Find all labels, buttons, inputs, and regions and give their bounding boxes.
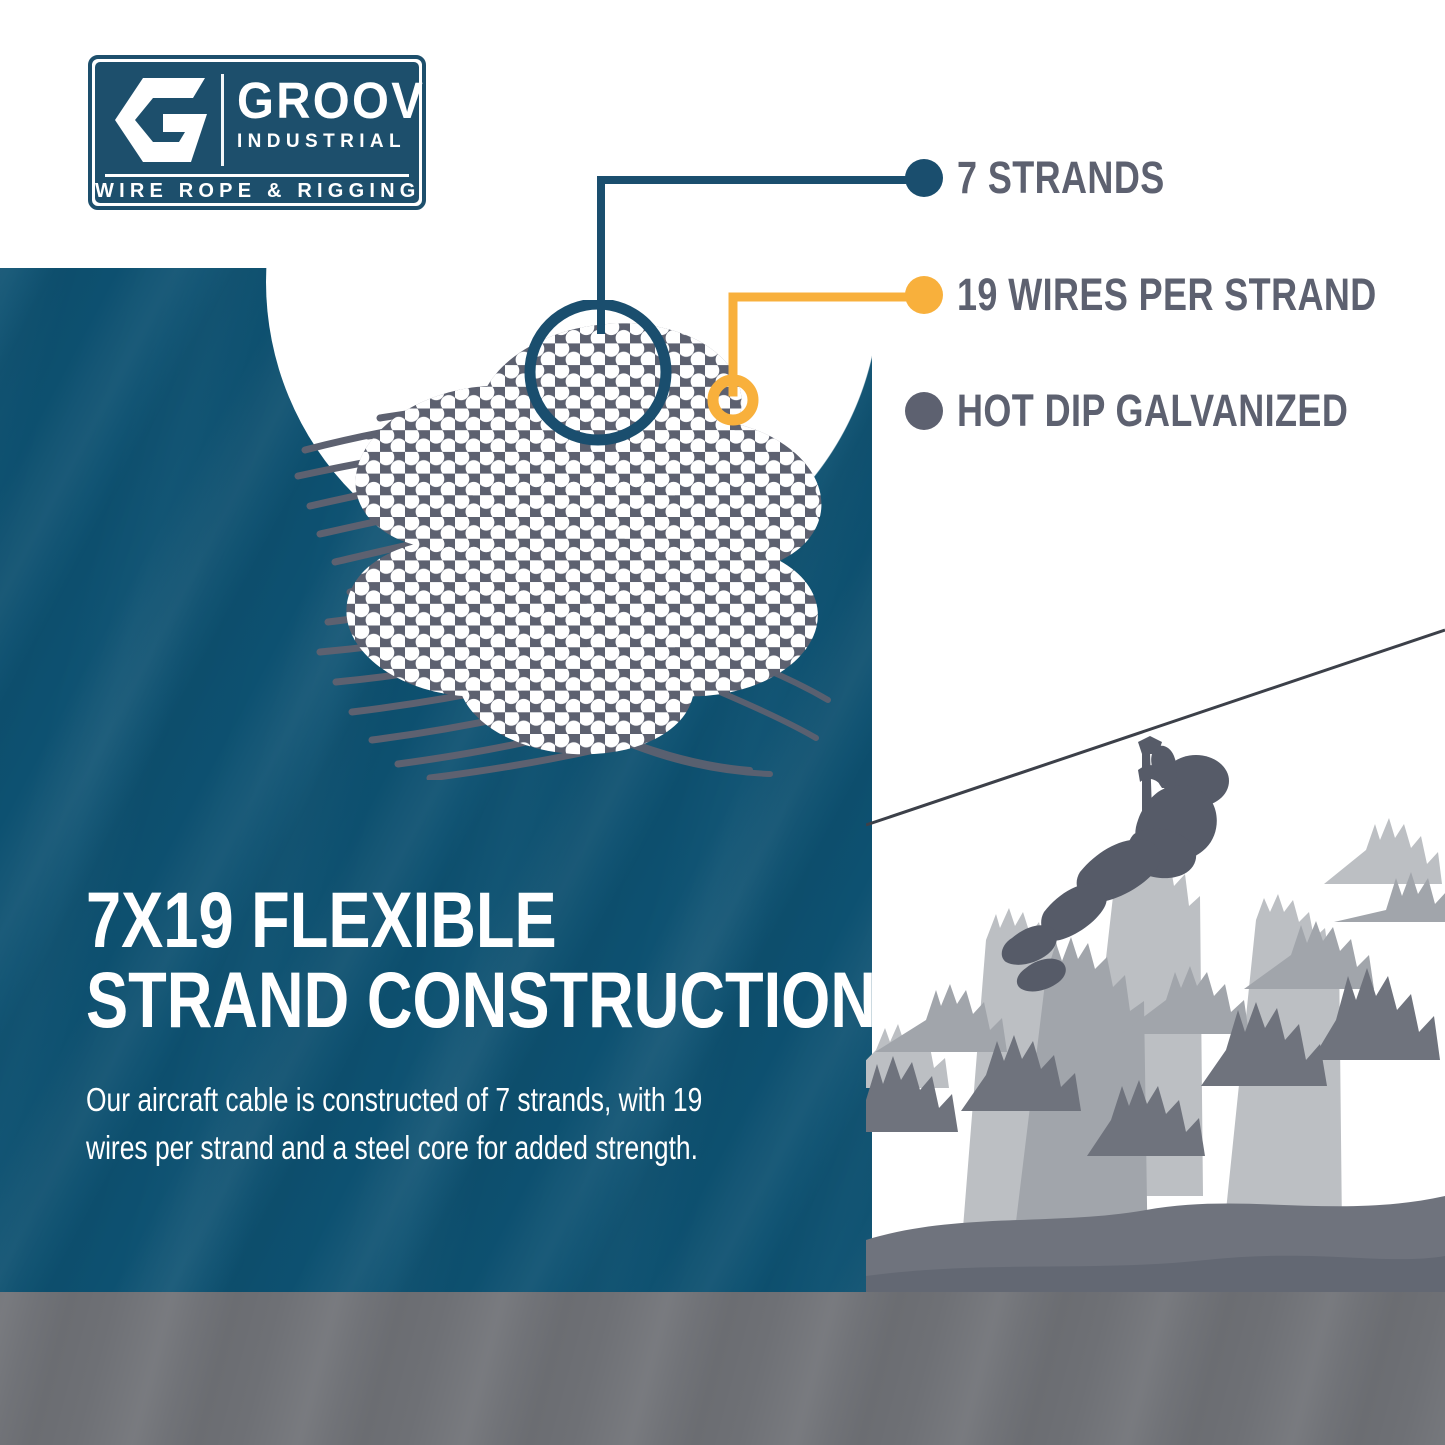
infographic-page: 7 STRANDS 19 WIRES PER STRAND HOT DIP GA… [0, 0, 1445, 1445]
logo-inner-plate: GROOVE INDUSTRIAL WIRE ROPE & RIGGING [95, 62, 419, 203]
bottom-gray-bar [0, 1292, 1445, 1445]
gray-bar-texture [0, 1292, 1445, 1445]
groove-g-monogram-icon [109, 72, 217, 168]
callout-19-wires-per-strand[interactable]: 19 WIRES PER STRAND [905, 272, 1445, 318]
hero-text-block: 7X19 FLEXIBLE STRAND CONSTRUCTION Our ai… [86, 880, 826, 1172]
logo-divider [221, 74, 224, 166]
bullet-dot-icon [905, 159, 943, 197]
wire-cross-sections [338, 316, 840, 766]
callout-label: 7 STRANDS [957, 155, 1165, 201]
hero-body-text: Our aircraft cable is constructed of 7 s… [86, 1076, 742, 1172]
bullet-dot-icon [905, 392, 943, 430]
callout-label: HOT DIP GALVANIZED [957, 388, 1348, 434]
brand-logo[interactable]: GROOVE INDUSTRIAL WIRE ROPE & RIGGING [88, 55, 426, 210]
hero-title-line-2: STRAND CONSTRUCTION [86, 960, 678, 1040]
hero-title-line-1: 7X19 FLEXIBLE [86, 880, 678, 960]
callout-7-strands[interactable]: 7 STRANDS [905, 155, 1217, 201]
callout-hot-dip-galvanized[interactable]: HOT DIP GALVANIZED [905, 388, 1445, 434]
zipline-forest-scene [866, 620, 1445, 1300]
callout-label: 19 WIRES PER STRAND [957, 272, 1377, 318]
logo-brand-name: GROOVE [237, 74, 397, 128]
logo-wordmark: GROOVE INDUSTRIAL [237, 74, 409, 153]
wire-rope-cross-section-illustration [280, 300, 840, 780]
bullet-dot-icon [905, 276, 943, 314]
logo-rule [105, 174, 409, 177]
logo-tagline: WIRE ROPE & RIGGING [95, 180, 419, 203]
logo-brand-sub: INDUSTRIAL [237, 131, 409, 153]
